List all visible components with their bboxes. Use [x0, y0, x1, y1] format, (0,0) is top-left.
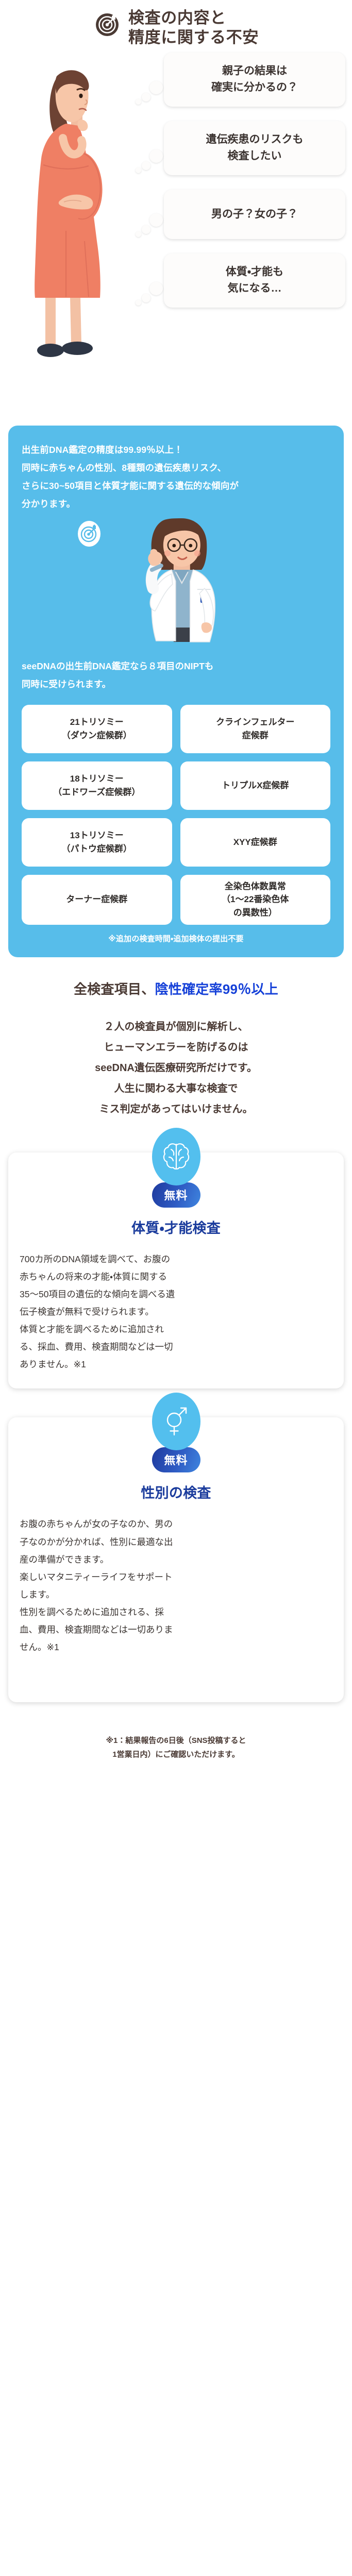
bubble-line1: 遺伝疾患のリスクも: [171, 131, 338, 148]
bubble-dot-small: [136, 167, 141, 173]
card-body-line8: せん。※1: [20, 1638, 332, 1656]
card-body: 700カ所のDNA領域を調べて、お腹の 赤ちゃんの将来の才能・体質に関する 35…: [20, 1250, 332, 1374]
condition-line1: 18トリソミー: [53, 772, 140, 786]
card-body-line4: 楽しいマタニティーライフをサポート: [20, 1568, 332, 1586]
card-body-line7: ありません。※1: [20, 1355, 332, 1373]
panel-lead-line4: 分かります。: [22, 495, 330, 513]
doctor-illustration-wrap: [22, 516, 330, 655]
panel-sub-line1: seeDNAの出生前DNA鑑定なら８項目のNIPTも: [22, 657, 330, 675]
pregnant-woman-illustration: [33, 56, 136, 385]
thought-bubble-list: 親子の結果は 確実に分かるの？ 遺伝疾患のリスクも 検査したい 男の子？: [164, 53, 345, 322]
bubble-dot-large: [149, 149, 163, 163]
bubble-dot-medium: [142, 225, 150, 234]
accuracy-title-plain: 全検査項目、: [74, 981, 155, 997]
condition-cell: ターナー症候群: [22, 875, 172, 925]
bubble-dot-large: [149, 81, 163, 94]
bubble-dot-small: [136, 300, 141, 306]
condition-line1: 全染色体数異常: [222, 880, 289, 893]
accuracy-title-highlight: 陰性確定率99％以上: [155, 981, 279, 997]
gender-symbol-icon: [152, 1393, 200, 1450]
condition-cell: 13トリソミー （パトウ症候群）: [22, 818, 172, 867]
bubble-dot-medium: [142, 161, 150, 170]
bubble-line1: 親子の結果は: [171, 63, 338, 80]
accuracy-body-line2: ヒューマンエラーを防げるのは: [10, 1037, 342, 1058]
panel-lead-line3: さらに30~50項目と体質才能に関する遺伝的な傾向が: [22, 477, 330, 495]
accuracy-body-line1: ２人の検査員が個別に解析し、: [10, 1016, 342, 1037]
bubble-line2: 確実に分かるの？: [171, 79, 338, 96]
thought-bubble: 体質・才能も 気になる…: [164, 253, 345, 308]
condition-line2: 症候群: [216, 729, 295, 742]
panel-lead-text: 出生前DNA鑑定の精度は99.99％以上！ 同時に赤ちゃんの性別、8種類の遺伝疾…: [22, 441, 330, 513]
landing-page: 検査の内容と 精度に関する不安: [0, 0, 352, 2576]
bubble-dot-medium: [142, 93, 150, 101]
bubble-tail-dots: [130, 209, 164, 237]
bubble-dot-medium: [142, 294, 150, 302]
condition-line1: 13トリソミー: [61, 829, 132, 842]
card-gender-test: 無料 性別の検査 お腹の赤ちゃんが女の子なのか、男の 子なのかが分かれば、性別に…: [8, 1417, 344, 1702]
card-body-line5: 体質と才能を調べるために追加され: [20, 1320, 332, 1338]
page-title-line2: 精度に関する不安: [128, 28, 259, 47]
card-title: 性別の検査: [20, 1482, 332, 1502]
accuracy-body-line3: seeDNA遺伝医療研究所だけです。: [10, 1058, 342, 1078]
accuracy-body-line4: 人生に関わる大事な検査で: [10, 1078, 342, 1099]
bubble-tail-dots: [130, 77, 164, 105]
target-accuracy-icon: [93, 10, 121, 38]
condition-cell: XYY症候群: [180, 818, 331, 867]
card-body-line2: 赤ちゃんの将来の才能・体質に関する: [20, 1268, 332, 1285]
condition-cell: 18トリソミー （エドワーズ症候群）: [22, 761, 172, 810]
condition-line2: （エドワーズ症候群）: [53, 786, 140, 799]
bubble-line2: 気になる…: [171, 280, 338, 297]
accuracy-title: 全検査項目、陰性確定率99％以上: [10, 980, 342, 998]
bubble-dot-small: [136, 99, 141, 105]
bubble-tail-dots: [130, 145, 164, 173]
condition-line1: クラインフェルター: [216, 716, 295, 729]
card-body-line2: 子なのかが分かれば、性別に最適な出: [20, 1533, 332, 1551]
accuracy-section: 全検査項目、陰性確定率99％以上 ２人の検査員が個別に解析し、 ヒューマンエラー…: [0, 957, 352, 1124]
bubble-tail-dots: [130, 278, 164, 306]
genetic-conditions-grid: 21トリソミー （ダウン症候群） クラインフェルター 症候群 18トリソミー （…: [22, 705, 330, 925]
footnote: ※1：結果報告の6日後（SNS投稿すると 1営業日内）にご確認いただけます。: [0, 1731, 352, 1782]
condition-line2: （パトウ症候群）: [61, 842, 132, 856]
page-title: 検査の内容と 精度に関する不安: [128, 7, 259, 47]
condition-line3: の異数性）: [222, 906, 289, 920]
footnote-line2: 1営業日内）にご確認いただけます。: [12, 1748, 340, 1761]
condition-line2: （ダウン症候群）: [62, 729, 132, 742]
footnote-line1: ※1：結果報告の6日後（SNS投稿すると: [12, 1734, 340, 1748]
free-badge: 無料: [152, 1447, 200, 1472]
section-header: 検査の内容と 精度に関する不安: [0, 0, 352, 47]
condition-line2: （1～22番染色体: [222, 893, 289, 906]
thought-bubble: 遺伝疾患のリスクも 検査したい: [164, 121, 345, 175]
card-body-line7: 血、費用、検査期間などは一切ありま: [20, 1621, 332, 1638]
condition-cell: トリプルX症候群: [180, 761, 331, 810]
bubble-dot-large: [149, 213, 163, 227]
card-body-line5: します。: [20, 1586, 332, 1603]
hero-section: 親子の結果は 確実に分かるの？ 遺伝疾患のリスクも 検査したい 男の子？: [0, 53, 352, 413]
panel-sub-text: seeDNAの出生前DNA鑑定なら８項目のNIPTも 同時に受けられます。: [22, 657, 330, 693]
condition-line1: トリプルX症候群: [222, 779, 289, 792]
card-body-line3: 35～50項目の遺伝的な傾向を調べる遺: [20, 1285, 332, 1303]
condition-line1: XYY症候群: [233, 836, 277, 849]
dna-test-summary-panel: 出生前DNA鑑定の精度は99.99％以上！ 同時に赤ちゃんの性別、8種類の遺伝疾…: [8, 426, 344, 957]
card-title: 体質・才能検査: [20, 1217, 332, 1237]
card-body-line6: る、採血、費用、検査期間などは一切: [20, 1338, 332, 1355]
card-body-line6: 性別を調べるために追加される、採: [20, 1603, 332, 1621]
bubble-dot-large: [149, 282, 163, 295]
condition-cell: 全染色体数異常 （1～22番染色体 の異数性）: [180, 875, 331, 925]
conditions-note: ※追加の検査時間・追加検体の提出不要: [22, 933, 330, 944]
card-body-line1: お腹の赤ちゃんが女の子なのか、男の: [20, 1515, 332, 1533]
bubble-dot-small: [136, 231, 141, 237]
feature-cards: 無料 体質・才能検査 700カ所のDNA領域を調べて、お腹の 赤ちゃんの将来の才…: [0, 1125, 352, 1703]
bubble-line1: 体質・才能も: [171, 264, 338, 281]
thought-bubble: 親子の結果は 確実に分かるの？: [164, 53, 345, 107]
bubble-line2: 検査したい: [171, 148, 338, 165]
panel-lead-line2: 同時に赤ちゃんの性別、8種類の遺伝疾患リスク、: [22, 459, 330, 477]
accuracy-body-line5: ミス判定があってはいけません。: [10, 1099, 342, 1120]
condition-cell: 21トリソミー （ダウン症候群）: [22, 705, 172, 753]
thought-bubble: 男の子？女の子？: [164, 190, 345, 239]
condition-line1: 21トリソミー: [62, 716, 132, 729]
accuracy-body: ２人の検査員が個別に解析し、 ヒューマンエラーを防げるのは seeDNA遺伝医療…: [10, 1016, 342, 1120]
panel-lead-line1: 出生前DNA鑑定の精度は99.99％以上！: [22, 441, 330, 459]
bubble-line1: 男の子？女の子？: [171, 206, 338, 223]
card-body-line3: 産の準備ができます。: [20, 1551, 332, 1568]
card-body-line4: 伝子検査が無料で受けられます。: [20, 1303, 332, 1320]
female-doctor-illustration: [124, 516, 242, 654]
card-body-line1: 700カ所のDNA領域を調べて、お腹の: [20, 1250, 332, 1268]
panel-sub-line2: 同時に受けられます。: [22, 675, 330, 693]
page-title-line1: 検査の内容と: [128, 9, 226, 27]
card-body: お腹の赤ちゃんが女の子なのか、男の 子なのかが分かれば、性別に最適な出 産の準備…: [20, 1515, 332, 1656]
condition-line1: ターナー症候群: [66, 893, 127, 906]
card-trait-talent-test: 無料 体質・才能検査 700カ所のDNA領域を調べて、お腹の 赤ちゃんの将来の才…: [8, 1153, 344, 1389]
target-accuracy-icon: [77, 520, 101, 547]
condition-cell: クラインフェルター 症候群: [180, 705, 331, 753]
free-badge: 無料: [152, 1182, 200, 1208]
brain-icon: [152, 1128, 200, 1185]
